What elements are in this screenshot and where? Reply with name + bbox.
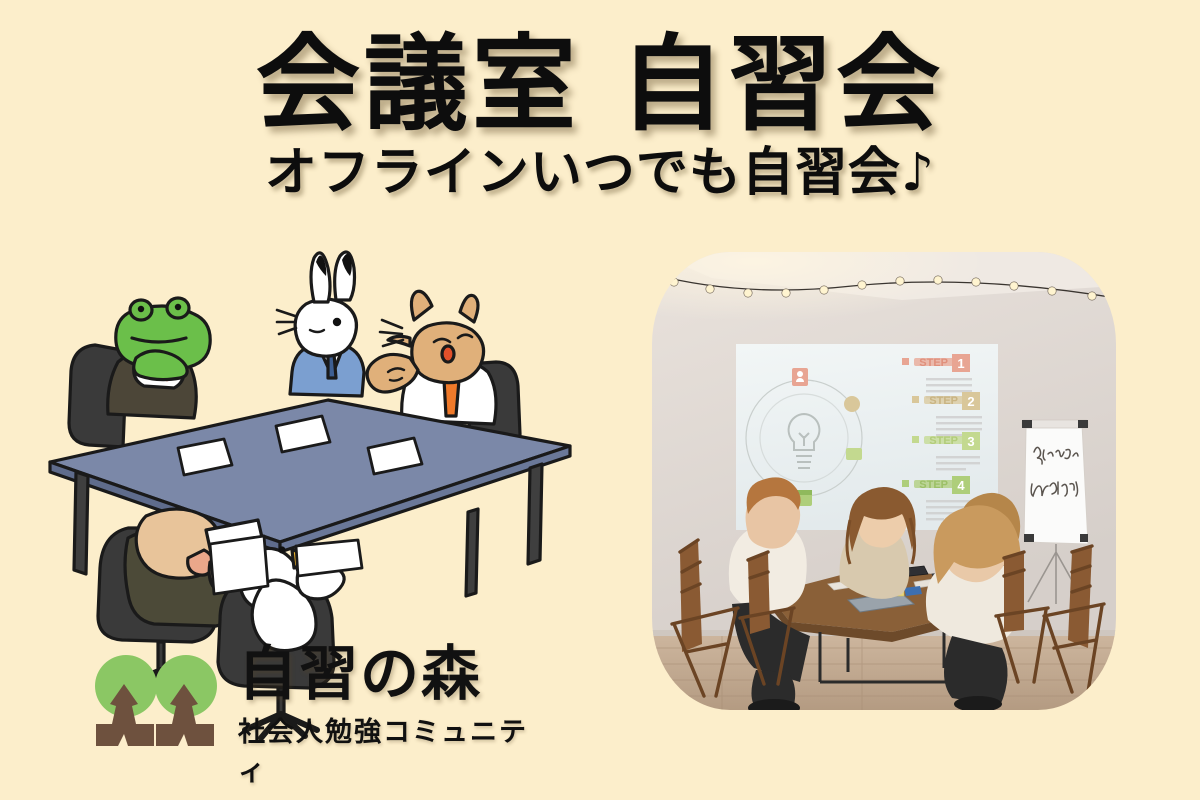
meeting-room-animals-illustration (10, 250, 600, 650)
brand-logo: 自習の森 社会人勉強コミュニティ (92, 640, 552, 770)
tree-icon (95, 655, 157, 746)
logo-name: 自習の森 (238, 640, 552, 708)
paper-man (210, 536, 268, 594)
tree-logo-icon (92, 648, 220, 756)
svg-text:2: 2 (967, 394, 974, 409)
poster-canvas: 会議室 自習会 オフラインいつでも自習会♪ (0, 0, 1200, 800)
character-frog (108, 298, 210, 418)
paper-duck (296, 540, 362, 576)
page-title: 会議室 自習会 (0, 30, 1200, 139)
svg-text:STEP: STEP (919, 479, 948, 491)
svg-text:STEP: STEP (919, 357, 948, 369)
title-block: 会議室 自習会 オフラインいつでも自習会♪ (0, 30, 1200, 202)
character-rabbit (277, 252, 364, 396)
tree-icon (155, 655, 217, 746)
svg-text:STEP: STEP (929, 435, 958, 447)
business-meeting-photo: STEP 1 STEP (652, 252, 1116, 710)
logo-text-block: 自習の森 社会人勉強コミュニティ (238, 640, 552, 788)
svg-text:4: 4 (957, 478, 965, 493)
svg-text:1: 1 (957, 356, 964, 371)
page-subtitle: オフラインいつでも自習会♪ (0, 145, 1200, 202)
svg-text:3: 3 (967, 434, 974, 449)
svg-text:STEP: STEP (929, 395, 958, 407)
logo-tagline: 社会人勉強コミュニティ (238, 710, 552, 788)
character-cat (367, 291, 496, 424)
